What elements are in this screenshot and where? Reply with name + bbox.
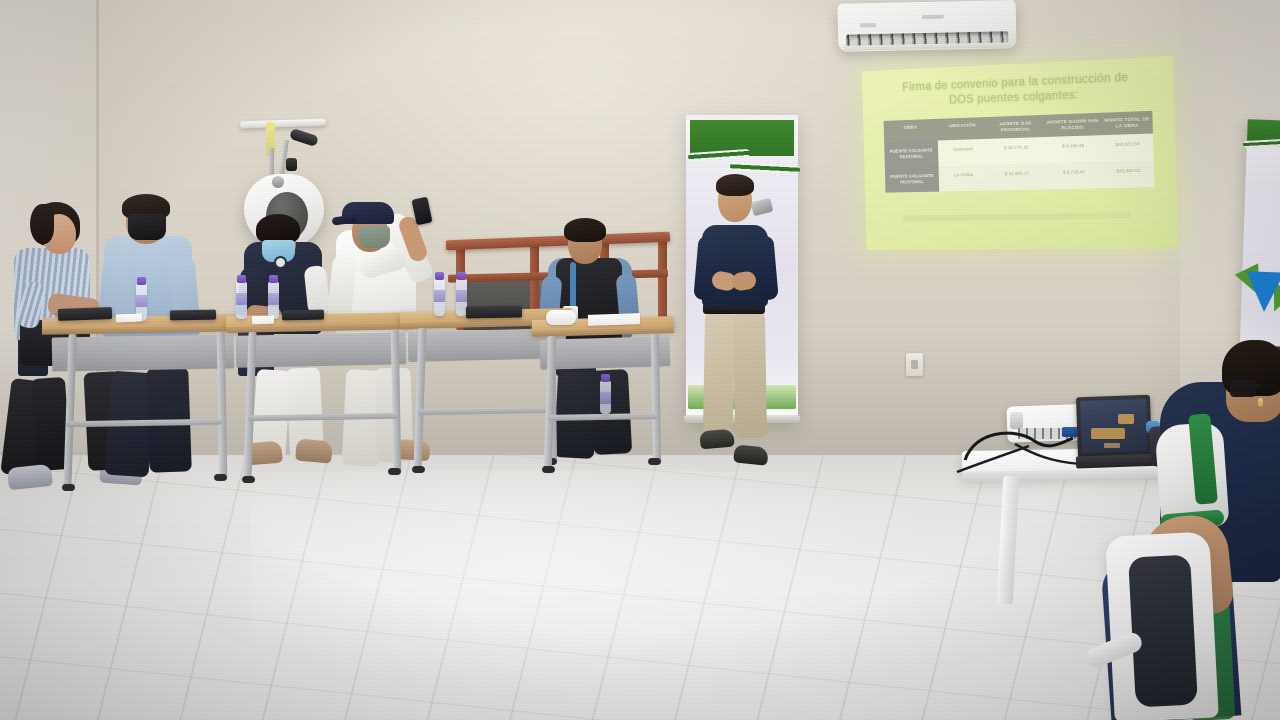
cell-ubicacion: Guarumal bbox=[938, 139, 989, 166]
desk-foot bbox=[242, 476, 255, 483]
machine-joint bbox=[286, 158, 297, 171]
header-monto-total: MONTO TOTAL DE LA OBRA bbox=[1101, 111, 1153, 136]
chair-backrest-opening bbox=[1128, 554, 1198, 707]
smartphone-on-desk[interactable] bbox=[170, 310, 216, 321]
banner-ribbon-icon bbox=[730, 162, 800, 174]
laptop-taskbar-item bbox=[1104, 443, 1120, 448]
slide-title-line2: DOS puentes colgantes: bbox=[949, 89, 1079, 106]
face-mask bbox=[358, 226, 390, 248]
bottle-label bbox=[268, 293, 279, 305]
hair bbox=[716, 174, 754, 196]
water-bottle[interactable] bbox=[434, 278, 445, 316]
bottle-cap bbox=[269, 275, 278, 283]
bottle-label bbox=[600, 392, 611, 404]
face-mask-on-desk[interactable] bbox=[546, 310, 576, 325]
water-bottle[interactable] bbox=[600, 380, 611, 414]
leg-trouser bbox=[733, 312, 767, 439]
hair bbox=[564, 218, 606, 242]
machine-hub bbox=[272, 176, 284, 188]
desk-foot bbox=[388, 468, 401, 475]
bottle-cap bbox=[457, 272, 466, 280]
bottle-label bbox=[136, 295, 147, 307]
bottle-label bbox=[456, 290, 467, 302]
desk-foot bbox=[412, 466, 425, 473]
railing-top-rail bbox=[446, 232, 670, 251]
outlet-socket-icon bbox=[911, 360, 918, 369]
cell-obra: PUENTE COLGANTE PEATONAL bbox=[885, 166, 939, 193]
bottle-cap bbox=[237, 275, 246, 283]
cell-aporte-provincial: $ 33,776.16 bbox=[988, 137, 1045, 165]
cable-bundle bbox=[955, 400, 1095, 490]
logo-triangle-blue-icon bbox=[1245, 271, 1280, 312]
water-bottle[interactable] bbox=[268, 281, 279, 319]
paper-sheet bbox=[588, 313, 640, 326]
slide-table: OBRA UBICACIÓN APORTE GAD PROVINCIAL APO… bbox=[884, 111, 1155, 193]
bottle-label bbox=[434, 290, 445, 302]
desk-foot bbox=[542, 466, 555, 473]
tablet-device[interactable] bbox=[58, 307, 112, 321]
wall-power-outlet[interactable] bbox=[906, 353, 923, 376]
header-ubicacion: UBICACIÓN bbox=[937, 117, 988, 141]
shoe bbox=[7, 464, 53, 490]
laptop-window-thumbnail bbox=[1118, 414, 1134, 424]
cell-aporte-provincial: $ 34,665.13 bbox=[989, 164, 1046, 191]
meeting-room-photo: Firma de convenio para la construcción d… bbox=[0, 0, 1280, 720]
ac-display-icon bbox=[922, 15, 944, 19]
railing-post bbox=[658, 234, 667, 328]
bottle-cap bbox=[435, 272, 444, 280]
earring-icon bbox=[1258, 398, 1263, 407]
paper-sheet bbox=[252, 316, 274, 325]
desk-foot bbox=[62, 484, 75, 491]
header-aporte-gadpr: APORTE GADPR SAN PLÁCIDO bbox=[1043, 113, 1101, 138]
bottle-label bbox=[236, 293, 247, 305]
cell-obra: PUENTE COLGANTE PEATONAL bbox=[884, 141, 938, 168]
header-obra: OBRA bbox=[884, 119, 938, 143]
hair-side bbox=[30, 204, 54, 244]
cell-aporte-gadpr: $ 8,196.48 bbox=[1044, 136, 1103, 164]
projected-slide: Firma de convenio para la construcción d… bbox=[862, 56, 1179, 250]
cell-monto-total: $40,972.64 bbox=[1102, 134, 1154, 162]
header-aporte-gad-provincial: APORTE GAD PROVINCIAL bbox=[987, 115, 1044, 139]
vga-cable bbox=[957, 446, 1029, 472]
shoe bbox=[295, 438, 333, 463]
cell-monto-total: $43,380.53 bbox=[1103, 161, 1155, 189]
cell-aporte-gadpr: $ 8,715.40 bbox=[1045, 162, 1104, 190]
bottle-cap bbox=[137, 277, 146, 285]
water-bottle[interactable] bbox=[236, 281, 247, 319]
desk-modesty-panel bbox=[236, 332, 407, 368]
floor-light-reflection bbox=[250, 470, 970, 700]
desk-foot bbox=[648, 458, 661, 465]
laptop-closed[interactable] bbox=[466, 306, 522, 319]
laptop-window-thumbnail bbox=[1091, 428, 1125, 439]
shoe bbox=[699, 429, 734, 450]
glasses-bridge bbox=[1251, 385, 1261, 388]
leg bbox=[590, 369, 632, 455]
brooch-icon bbox=[276, 258, 285, 267]
desk-modesty-panel bbox=[52, 334, 235, 371]
cell-ubicacion: La Peñita bbox=[939, 165, 990, 192]
leg-trouser bbox=[703, 312, 735, 437]
smartphone-on-desk[interactable] bbox=[282, 310, 324, 321]
desk-foot bbox=[214, 474, 227, 481]
eyeglasses-icon bbox=[1230, 380, 1256, 397]
paper-sheet bbox=[116, 314, 142, 323]
banner-ribbon-icon bbox=[1243, 139, 1280, 148]
ac-brand-label bbox=[860, 23, 876, 27]
bottle-cap bbox=[601, 374, 610, 382]
split-air-conditioner bbox=[838, 0, 1017, 52]
face-mask bbox=[128, 214, 166, 240]
